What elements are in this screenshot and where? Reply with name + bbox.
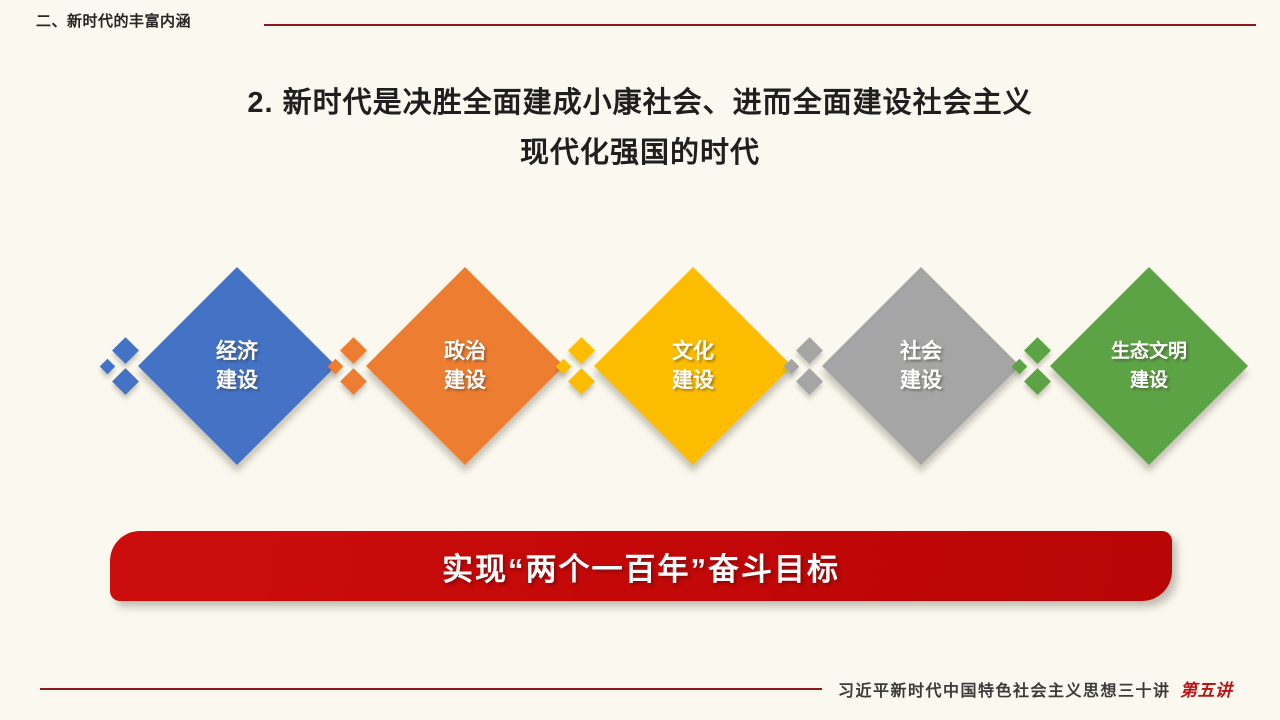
footer-book-title: 习近平新时代中国特色社会主义思想三十讲 [838,677,1171,701]
page-title: 2. 新时代是决胜全面建成小康社会、进而全面建设社会主义 现代化强国的时代 [0,78,1280,178]
connector-lower-diamond-icon [568,368,595,395]
connector-upper-diamond-icon [568,337,595,364]
connector-upper-diamond-icon [796,337,823,364]
diamond-chain-row: 经济 建设 政治 建设 文化 [100,266,1180,466]
diamond-node-label: 社会 建设 [830,275,1012,457]
connector-lower-diamond-icon [112,368,139,395]
diamond-label-line-1: 政治 [444,337,486,366]
diamond-label-line-1: 文化 [672,337,714,366]
diamond-node-economy[interactable]: 经济 建设 [146,275,328,457]
diamond-node-label: 生态文明 建设 [1058,275,1240,457]
connector-upper-diamond-icon [1024,337,1051,364]
diamond-label-line-2: 建设 [900,366,942,395]
footer-divider-line [40,688,822,690]
connector-upper-diamond-icon [340,337,367,364]
diamond-label-line-2: 建设 [216,366,258,395]
diamond-node-label: 经济 建设 [146,275,328,457]
diamond-node-culture[interactable]: 文化 建设 [602,275,784,457]
page-title-line-2: 现代化强国的时代 [0,128,1280,178]
connector-lower-diamond-icon [340,368,367,395]
connector-lower-diamond-icon [796,368,823,395]
header-divider-line [264,24,1256,26]
diamond-label-line-1: 生态文明 [1111,337,1187,366]
connector-tiny-diamond-icon [100,359,116,375]
connector-lower-diamond-icon [1024,368,1051,395]
diamond-label-line-2: 建设 [672,366,714,395]
connector-tiny-diamond-icon [784,359,800,375]
connector-tiny-diamond-icon [328,359,344,375]
footer-lecture-badge: 第五讲 [1180,676,1233,701]
diamond-node-society[interactable]: 社会 建设 [830,275,1012,457]
connector-upper-diamond-icon [112,337,139,364]
section-label: 二、新时代的丰富内涵 [36,10,191,31]
slide-footer: 习近平新时代中国特色社会主义思想三十讲 第五讲 [0,672,1280,720]
diamond-chain-diagram: 经济 建设 政治 建设 文化 [0,266,1280,466]
goal-banner: 实现“两个一百年”奋斗目标 [110,531,1172,601]
diamond-node-ecology[interactable]: 生态文明 建设 [1058,275,1240,457]
slide-header: 二、新时代的丰富内涵 [0,0,1280,46]
page-title-line-1: 2. 新时代是决胜全面建成小康社会、进而全面建设社会主义 [0,78,1280,128]
diamond-label-line-2: 建设 [444,366,486,395]
goal-banner-text: 实现“两个一百年”奋斗目标 [442,544,840,589]
connector-tiny-diamond-icon [556,359,572,375]
diamond-node-label: 政治 建设 [374,275,556,457]
connector-tiny-diamond-icon [1012,359,1028,375]
diamond-label-line-1: 经济 [216,337,258,366]
diamond-label-line-2: 建设 [1130,366,1168,395]
diamond-label-line-1: 社会 [900,337,942,366]
diamond-node-politics[interactable]: 政治 建设 [374,275,556,457]
diamond-node-label: 文化 建设 [602,275,784,457]
